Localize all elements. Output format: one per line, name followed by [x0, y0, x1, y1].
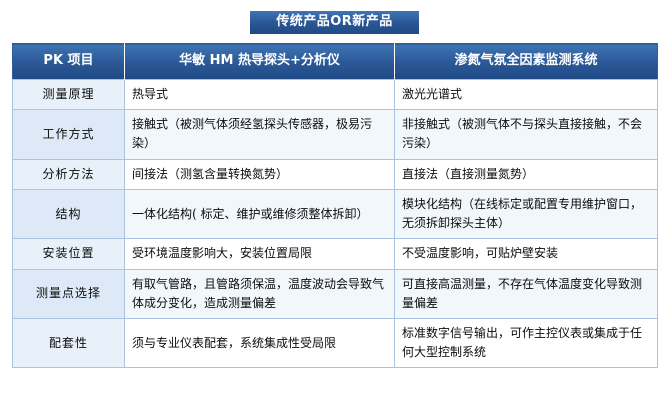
- banner-title: 传统产品OR新产品: [250, 11, 419, 34]
- row-value-product-b: 激光光谱式: [395, 79, 658, 110]
- row-value-product-a: 一体化结构( 标定、维护或维修须整体拆卸）: [125, 190, 395, 239]
- row-value-product-b: 可直接高温测量，不存在气体温度变化导致测量偏差: [395, 270, 658, 319]
- row-label: 安装位置: [13, 239, 125, 270]
- row-value-product-b: 标准数字信号输出，可作主控仪表或集成于任何大型控制系统: [395, 319, 658, 368]
- row-label: 配套性: [13, 319, 125, 368]
- row-label: 结构: [13, 190, 125, 239]
- row-label: 测量点选择: [13, 270, 125, 319]
- table-row: 测量原理 热导式 激光光谱式: [13, 79, 658, 110]
- column-header-item: PK 项目: [13, 44, 125, 80]
- column-header-product-b: 渗氮气氛全因素监测系统: [395, 44, 658, 80]
- table-row: 工作方式 接触式（被测气体须经氢探头传感器，极易污染） 非接触式（被测气体不与探…: [13, 110, 658, 159]
- row-value-product-b: 非接触式（被测气体不与探头直接接触，不会污染）: [395, 110, 658, 159]
- table-row: 安装位置 受环境温度影响大，安装位置局限 不受温度影响，可贴炉壁安装: [13, 239, 658, 270]
- row-label: 分析方法: [13, 159, 125, 190]
- banner: 传统产品OR新产品: [12, 10, 657, 34]
- column-header-product-a: 华敏 HM 热导探头+分析仪: [125, 44, 395, 80]
- page-root: 传统产品OR新产品 PK 项目 华敏 HM 热导探头+分析仪 渗氮气氛全因素监测…: [0, 0, 669, 406]
- row-value-product-a: 有取气管路，且管路须保温，温度波动会导致气体成分变化，造成测量偏差: [125, 270, 395, 319]
- table-header-row: PK 项目 华敏 HM 热导探头+分析仪 渗氮气氛全因素监测系统: [13, 44, 658, 80]
- comparison-table: PK 项目 华敏 HM 热导探头+分析仪 渗氮气氛全因素监测系统 测量原理 热导…: [12, 43, 658, 368]
- row-value-product-b: 模块化结构（在线标定或配置专用维护窗口，无须拆卸探头主体）: [395, 190, 658, 239]
- table-row: 分析方法 间接法（测氢含量转换氮势） 直接法（直接测量氮势）: [13, 159, 658, 190]
- table-row: 测量点选择 有取气管路，且管路须保温，温度波动会导致气体成分变化，造成测量偏差 …: [13, 270, 658, 319]
- row-label: 工作方式: [13, 110, 125, 159]
- row-label: 测量原理: [13, 79, 125, 110]
- table-row: 配套性 须与专业仪表配套，系统集成性受局限 标准数字信号输出，可作主控仪表或集成…: [13, 319, 658, 368]
- row-value-product-b: 直接法（直接测量氮势）: [395, 159, 658, 190]
- row-value-product-a: 热导式: [125, 79, 395, 110]
- row-value-product-a: 须与专业仪表配套，系统集成性受局限: [125, 319, 395, 368]
- table-row: 结构 一体化结构( 标定、维护或维修须整体拆卸） 模块化结构（在线标定或配置专用…: [13, 190, 658, 239]
- row-value-product-a: 间接法（测氢含量转换氮势）: [125, 159, 395, 190]
- row-value-product-a: 受环境温度影响大，安装位置局限: [125, 239, 395, 270]
- row-value-product-a: 接触式（被测气体须经氢探头传感器，极易污染）: [125, 110, 395, 159]
- row-value-product-b: 不受温度影响，可贴炉壁安装: [395, 239, 658, 270]
